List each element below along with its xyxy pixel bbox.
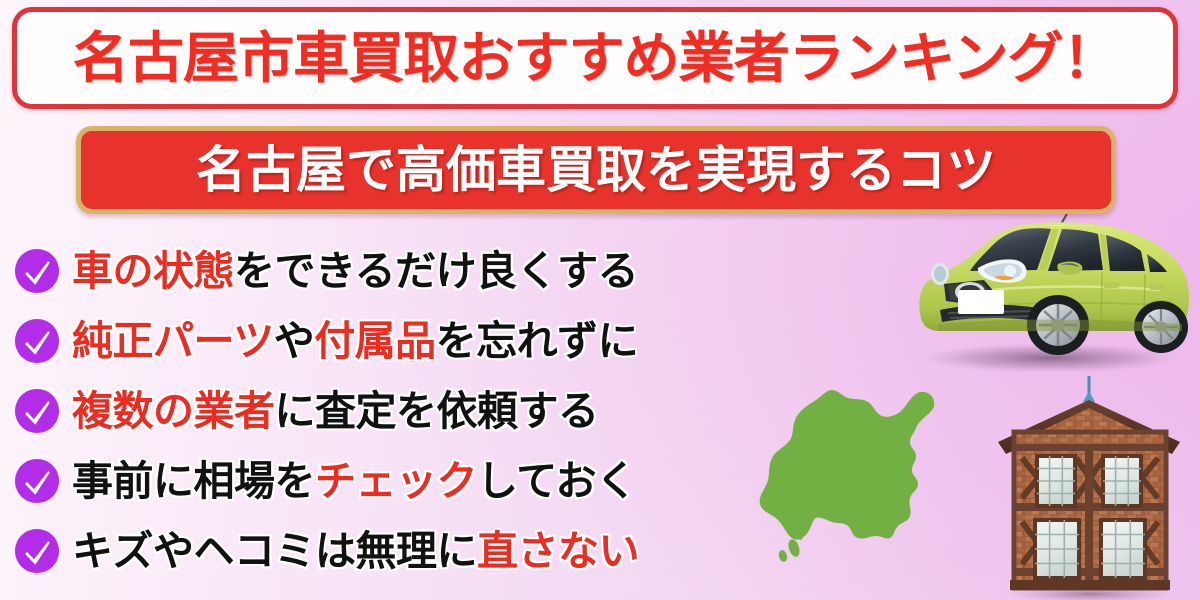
label-segment: 複数の業者 bbox=[72, 387, 275, 435]
red-brick-building-illustration bbox=[992, 372, 1188, 600]
label-segment: チェック bbox=[315, 457, 477, 505]
label-segment: を忘れずに bbox=[436, 317, 639, 365]
main-title-text: 名古屋市車買取おすすめ業者ランキング！ bbox=[73, 31, 1118, 86]
subtitle-text: 名古屋で高価車買取を実現するコツ bbox=[196, 145, 996, 195]
check-circle-icon bbox=[14, 248, 60, 294]
check-circle-icon bbox=[14, 458, 60, 504]
label-segment: に査定を依頼する bbox=[275, 387, 599, 435]
label-segment: や bbox=[274, 317, 315, 365]
main-title-banner: 名古屋市車買取おすすめ業者ランキング！ bbox=[12, 7, 1178, 109]
subtitle-banner: 名古屋で高価車買取を実現するコツ bbox=[76, 126, 1116, 214]
list-item: キズやヘコミは無理に直さない bbox=[0, 516, 790, 586]
list-item-label: 複数の業者に査定を依頼する bbox=[72, 391, 599, 432]
label-segment: キズやヘコミは無理に bbox=[72, 527, 477, 575]
list-item-label: キズやヘコミは無理に直さない bbox=[72, 531, 639, 572]
tips-checklist: 車の状態をできるだけ良くする 純正パーツや付属品を忘れずに 複数の業者に査定を依… bbox=[0, 236, 790, 586]
list-item-label: 車の状態をできるだけ良くする bbox=[72, 251, 638, 292]
label-segment: をできるだけ良くする bbox=[234, 247, 638, 295]
check-circle-icon bbox=[14, 318, 60, 364]
check-circle-icon bbox=[14, 528, 60, 574]
label-segment: しておく bbox=[477, 457, 637, 505]
list-item-label: 純正パーツや付属品を忘れずに bbox=[72, 321, 638, 362]
list-item: 事前に相場をチェックしておく bbox=[0, 446, 790, 516]
label-segment: 付属品 bbox=[314, 317, 436, 365]
list-item: 複数の業者に査定を依頼する bbox=[0, 376, 790, 446]
check-circle-icon bbox=[14, 388, 60, 434]
label-segment: 直さない bbox=[477, 527, 639, 575]
list-item: 車の状態をできるだけ良くする bbox=[0, 236, 790, 306]
label-segment: 純正パーツ bbox=[72, 317, 274, 365]
label-segment: 事前に相場を bbox=[72, 457, 315, 505]
green-compact-car-photo bbox=[898, 198, 1198, 374]
poster-canvas: 名古屋市車買取おすすめ業者ランキング！ 名古屋で高価車買取を実現するコツ 車の状… bbox=[0, 0, 1200, 600]
list-item: 純正パーツや付属品を忘れずに bbox=[0, 306, 790, 376]
label-segment: 車の状態 bbox=[72, 247, 234, 295]
list-item-label: 事前に相場をチェックしておく bbox=[72, 461, 637, 502]
